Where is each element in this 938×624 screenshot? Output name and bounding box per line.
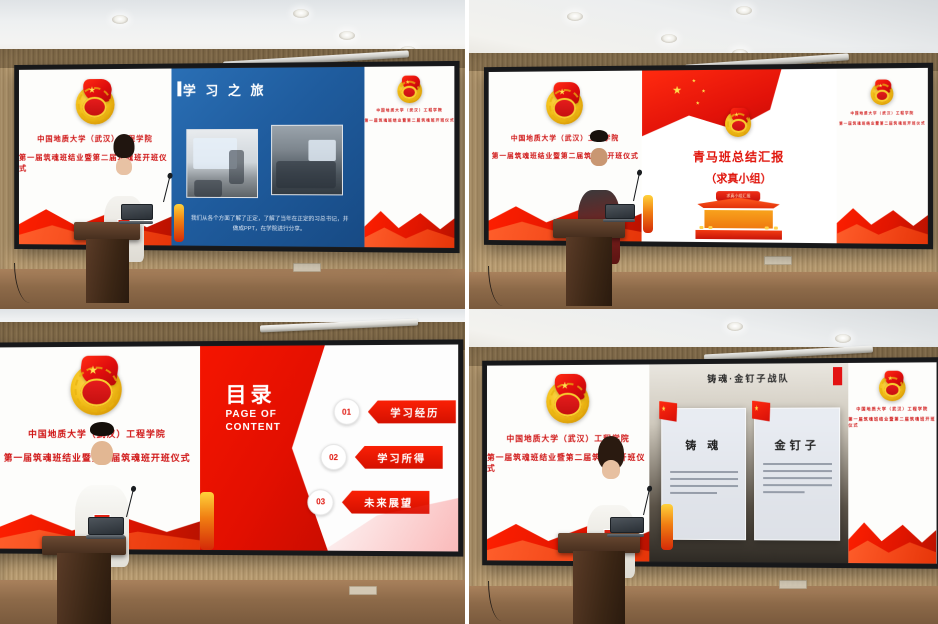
speaker-hair [590,130,608,142]
speaker-hair [90,422,114,436]
podium-column [57,553,111,624]
toc-title: 目录 [226,378,276,408]
podium-top [74,222,140,240]
banner-line-1: 中国地质大学（武汉）工程学院 [857,407,929,413]
stage-ornament [200,492,214,550]
photo-person [229,150,244,184]
screen-segment-center: 铸魂·金钉子战队 铸 魂 金钉子 [650,363,849,563]
text-line [670,486,738,488]
gate-lamp [700,226,704,229]
laptop-lid [610,517,644,533]
floor [469,586,938,624]
emblem-wreath [873,84,893,104]
ceremony-banner: 中国地质大学（武汉）工程学院 第一届筑魂班结业暨第二届筑魂班开班仪式 [365,66,455,248]
cyl-emblem-icon [71,363,122,415]
screen-segment-center: 学 习 之 旅 我们从各个方面了解了正定，了解了当年在正定的习 [172,67,365,248]
screen-segment-center: 青马班总结汇报 （求真小组） 求真小组汇报 [642,69,837,244]
laptop-lid [605,204,635,219]
cyl-emblem-icon [879,375,906,402]
screen-segment-right: 中国地质大学（武汉）工程学院 第一届筑魂班结业暨第二届筑魂班开班仪式 [837,68,928,245]
laptop [605,204,633,222]
slide-photo-2 [271,125,343,196]
text-line [670,472,738,474]
stage-ornament [643,195,653,233]
photo-table [276,162,336,189]
podium-column [86,239,128,303]
team-slide-title: 铸魂·金钉子战队 [650,371,849,385]
team-card-body [670,472,738,500]
team-card-title: 铸 魂 [663,438,746,454]
cover-subtitle: （求真小组） [642,170,837,187]
laptop-base [119,221,154,224]
laptop-base [86,535,125,539]
floor [0,269,465,309]
slide-table-of-contents: 目录 PAGE OF CONTENT 01 学习经历 02 学习所得 [200,344,458,551]
screen-segment-center: 目录 PAGE OF CONTENT 01 学习经历 02 学习所得 [200,344,458,551]
ceremony-banner: 中国地质大学（武汉）工程学院 第一届筑魂班结业暨第二届筑魂班开班仪式 [849,363,937,564]
cyl-emblem-icon [547,87,584,125]
wall-plate [764,256,792,265]
screen-segment-right: 中国地质大学（武汉）工程学院 第一届筑魂班结业暨第二届筑魂班开班仪式 [849,363,937,564]
emblem-wreath [881,377,905,400]
banner-line-1: 中国地质大学（武汉）工程学院 [38,134,154,145]
cyl-emblem-icon [726,111,752,137]
tiananmen-graphic [694,197,784,239]
text-line [763,464,832,466]
emblem-wreath [74,366,119,412]
cyl-emblem-icon [76,85,115,125]
gate-body [705,210,773,229]
panel-bottom-right: 中国地质大学（武汉）工程学院 第一届筑魂班结业暨第二届筑魂班开班仪式 铸魂·金钉… [469,309,938,624]
laptop-base [607,534,644,537]
podium-column [566,237,612,306]
banner-line-2: 第一届筑魂班结业暨第二届筑魂班开班仪式 [365,118,455,123]
toc-subtitle: PAGE OF CONTENT [226,409,281,434]
photo-collage: 中国地质大学（武汉）工程学院 第一届筑魂班结业暨第二届筑魂班开班仪式 学 习 之… [0,0,938,624]
laptop [610,517,642,537]
laptop-base [603,219,635,222]
laptop-lid [88,517,124,535]
floor [469,272,938,309]
toc-subtitle-line1: PAGE OF [226,409,277,420]
emblem-wreath [78,87,112,122]
banner-line-2: 第一届筑魂班结业暨第二届筑魂班开班仪式 [19,152,172,174]
screen-surface: 中国地质大学（武汉）工程学院 第一届筑魂班结业暨第二届筑魂班开班仪式 目录 P [0,344,459,551]
team-card-body [763,464,832,499]
screen-surface: 中国地质大学（武汉）工程学院 第一届筑魂班结业暨第二届筑魂班开班仪式 学 习 之… [19,66,455,248]
downlight-icon [727,322,743,331]
gate-lamp [708,226,712,229]
podium [42,536,126,624]
text-line [670,479,738,481]
toc-label: 学习经历 [368,399,456,422]
wall-plate [349,586,377,595]
speaker-head [602,460,620,479]
screen-surface: 中国地质大学（武汉）工程学院 第一届筑魂班结业暨第二届筑魂班开班仪式 铸魂·金钉… [487,363,936,564]
cover-title: 青马班总结汇报 [642,147,837,164]
podium [553,219,625,306]
text-line [670,493,718,495]
emblem-wreath [399,81,421,103]
slide-learning-journey: 学 习 之 旅 我们从各个方面了解了正定，了解了当年在正定的习 [172,67,365,248]
gate-lamp [774,227,779,230]
speaker-head [116,158,132,175]
banner-wave-decor [365,201,455,249]
led-video-wall: 中国地质大学（武汉）工程学院 第一届筑魂班结业暨第二届筑魂班开班仪式 铸魂·金钉… [483,358,938,570]
speaker-hair [114,134,135,158]
text-line [763,485,832,487]
led-video-wall: 中国地质大学（武汉）工程学院 第一届筑魂班结业暨第二届筑魂班开班仪式 目录 P [0,339,464,556]
slide-caption: 我们从各个方面了解了正定，了解了当年在正定的习总书记，并做成PPT，在学院进行分… [191,215,349,235]
slide-team-intro: 铸魂·金钉子战队 铸 魂 金钉子 [650,363,849,563]
ceremony-banner: 中国地质大学（武汉）工程学院 第一届筑魂班结业暨第二届筑魂班开班仪式 [837,68,928,245]
toc-number: 01 [333,398,359,424]
text-line [763,471,832,473]
led-video-wall: 中国地质大学（武汉）工程学院 第一届筑魂班结业暨第二届筑魂班开班仪式 [484,63,933,250]
panel-bottom-left: 中国地质大学（武汉）工程学院 第一届筑魂班结业暨第二届筑魂班开班仪式 目录 P [0,309,465,624]
podium [558,533,640,624]
laptop [121,204,151,224]
slide-title: 学 习 之 旅 [183,81,267,101]
laptop-lid [121,204,153,220]
gate-lamp [765,227,770,230]
wall-plate [779,580,807,589]
team-card-1: 铸 魂 [662,408,747,541]
screen-surface: 中国地质大学（武汉）工程学院 第一届筑魂班结业暨第二届筑魂班开班仪式 [489,68,928,245]
china-flag-icon [660,401,678,422]
cyl-emblem-icon [871,82,894,105]
toc-label: 学习所得 [355,445,443,468]
team-card-2: 金钉子 [755,407,841,541]
cyl-emblem-icon [397,79,422,104]
stage-ornament [174,204,184,242]
title-accent-bar [178,82,182,97]
team-card-title: 金钉子 [756,437,840,453]
toc-number: 03 [308,489,334,515]
text-line [763,478,832,480]
gate-roof [698,197,780,208]
text-line [763,492,804,494]
toc-number: 02 [320,443,346,469]
banner-line-1: 中国地质大学（武汉）工程学院 [851,110,915,115]
banner-line-2: 第一届筑魂班结业暨第二届筑魂班开班仪式 [849,417,937,429]
toc-item-02[interactable]: 02 学习所得 [320,443,442,469]
speaker-head [590,148,607,166]
toc-subtitle-line2: CONTENT [226,421,281,432]
gate-base [696,230,782,240]
screen-segment-right: 中国地质大学（武汉）工程学院 第一届筑魂班结业暨第二届筑魂班开班仪式 [365,66,455,248]
photo-audience [195,180,222,198]
slide-photo-1 [187,129,258,199]
banner-wave-decor [837,198,928,244]
stage-ornament [661,504,673,550]
wall-plate [293,263,321,272]
emblem-wreath [549,383,587,422]
flag-banner-graphic [642,69,781,139]
photo-screen [309,140,337,162]
china-flag-icon [752,401,770,422]
panel-top-right: 中国地质大学（武汉）工程学院 第一届筑魂班结业暨第二届筑魂班开班仪式 [469,0,938,309]
cyl-emblem-icon [547,380,590,424]
speaker-head [91,441,113,465]
banner-wave-decor [849,511,937,564]
laptop [88,517,122,539]
emblem-wreath [549,89,581,122]
podium [74,222,140,302]
toc-item-01[interactable]: 01 学习经历 [333,398,455,425]
banner-line-2: 第一届筑魂班结业暨第二届筑魂班开班仪式 [840,120,927,125]
slide-cover: 青马班总结汇报 （求真小组） 求真小组汇报 [642,69,837,244]
podium-top [553,219,625,238]
panel-top-left: 中国地质大学（武汉）工程学院 第一届筑魂班结业暨第二届筑魂班开班仪式 学 习 之… [0,0,465,309]
podium-column [573,551,625,624]
banner-line-1: 中国地质大学（武汉）工程学院 [377,109,443,114]
